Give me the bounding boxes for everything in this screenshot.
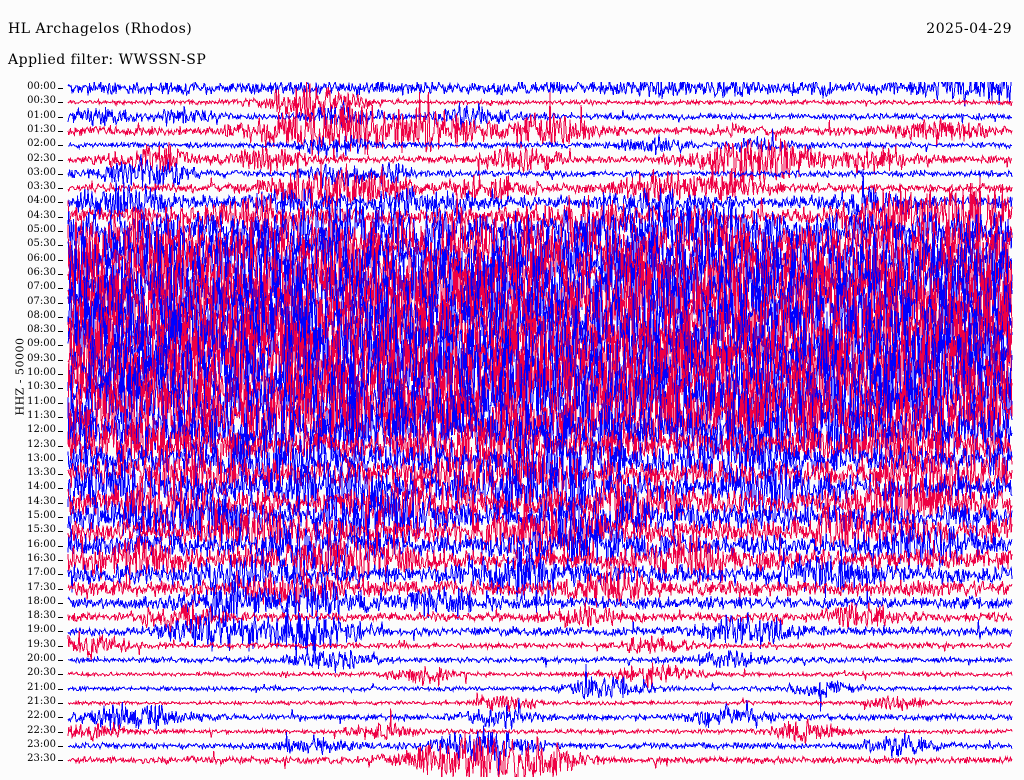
trace-line (68, 663, 1012, 690)
helicorder-plot: 00:0000:3001:0001:3002:0002:3003:0003:30… (0, 82, 1024, 777)
trace-line (68, 732, 1012, 778)
date-label: 2025-04-29 (926, 21, 1012, 37)
helicorder-page: HL Archagelos (Rhodos) Applied filter: W… (0, 0, 1024, 780)
seismogram-traces (0, 82, 1024, 777)
page-title: HL Archagelos (Rhodos) (8, 21, 192, 37)
trace-line (68, 692, 1012, 712)
filter-label: Applied filter: WWSSN-SP (8, 52, 206, 68)
trace-canvas (0, 82, 1024, 777)
trace-line (68, 598, 1012, 659)
